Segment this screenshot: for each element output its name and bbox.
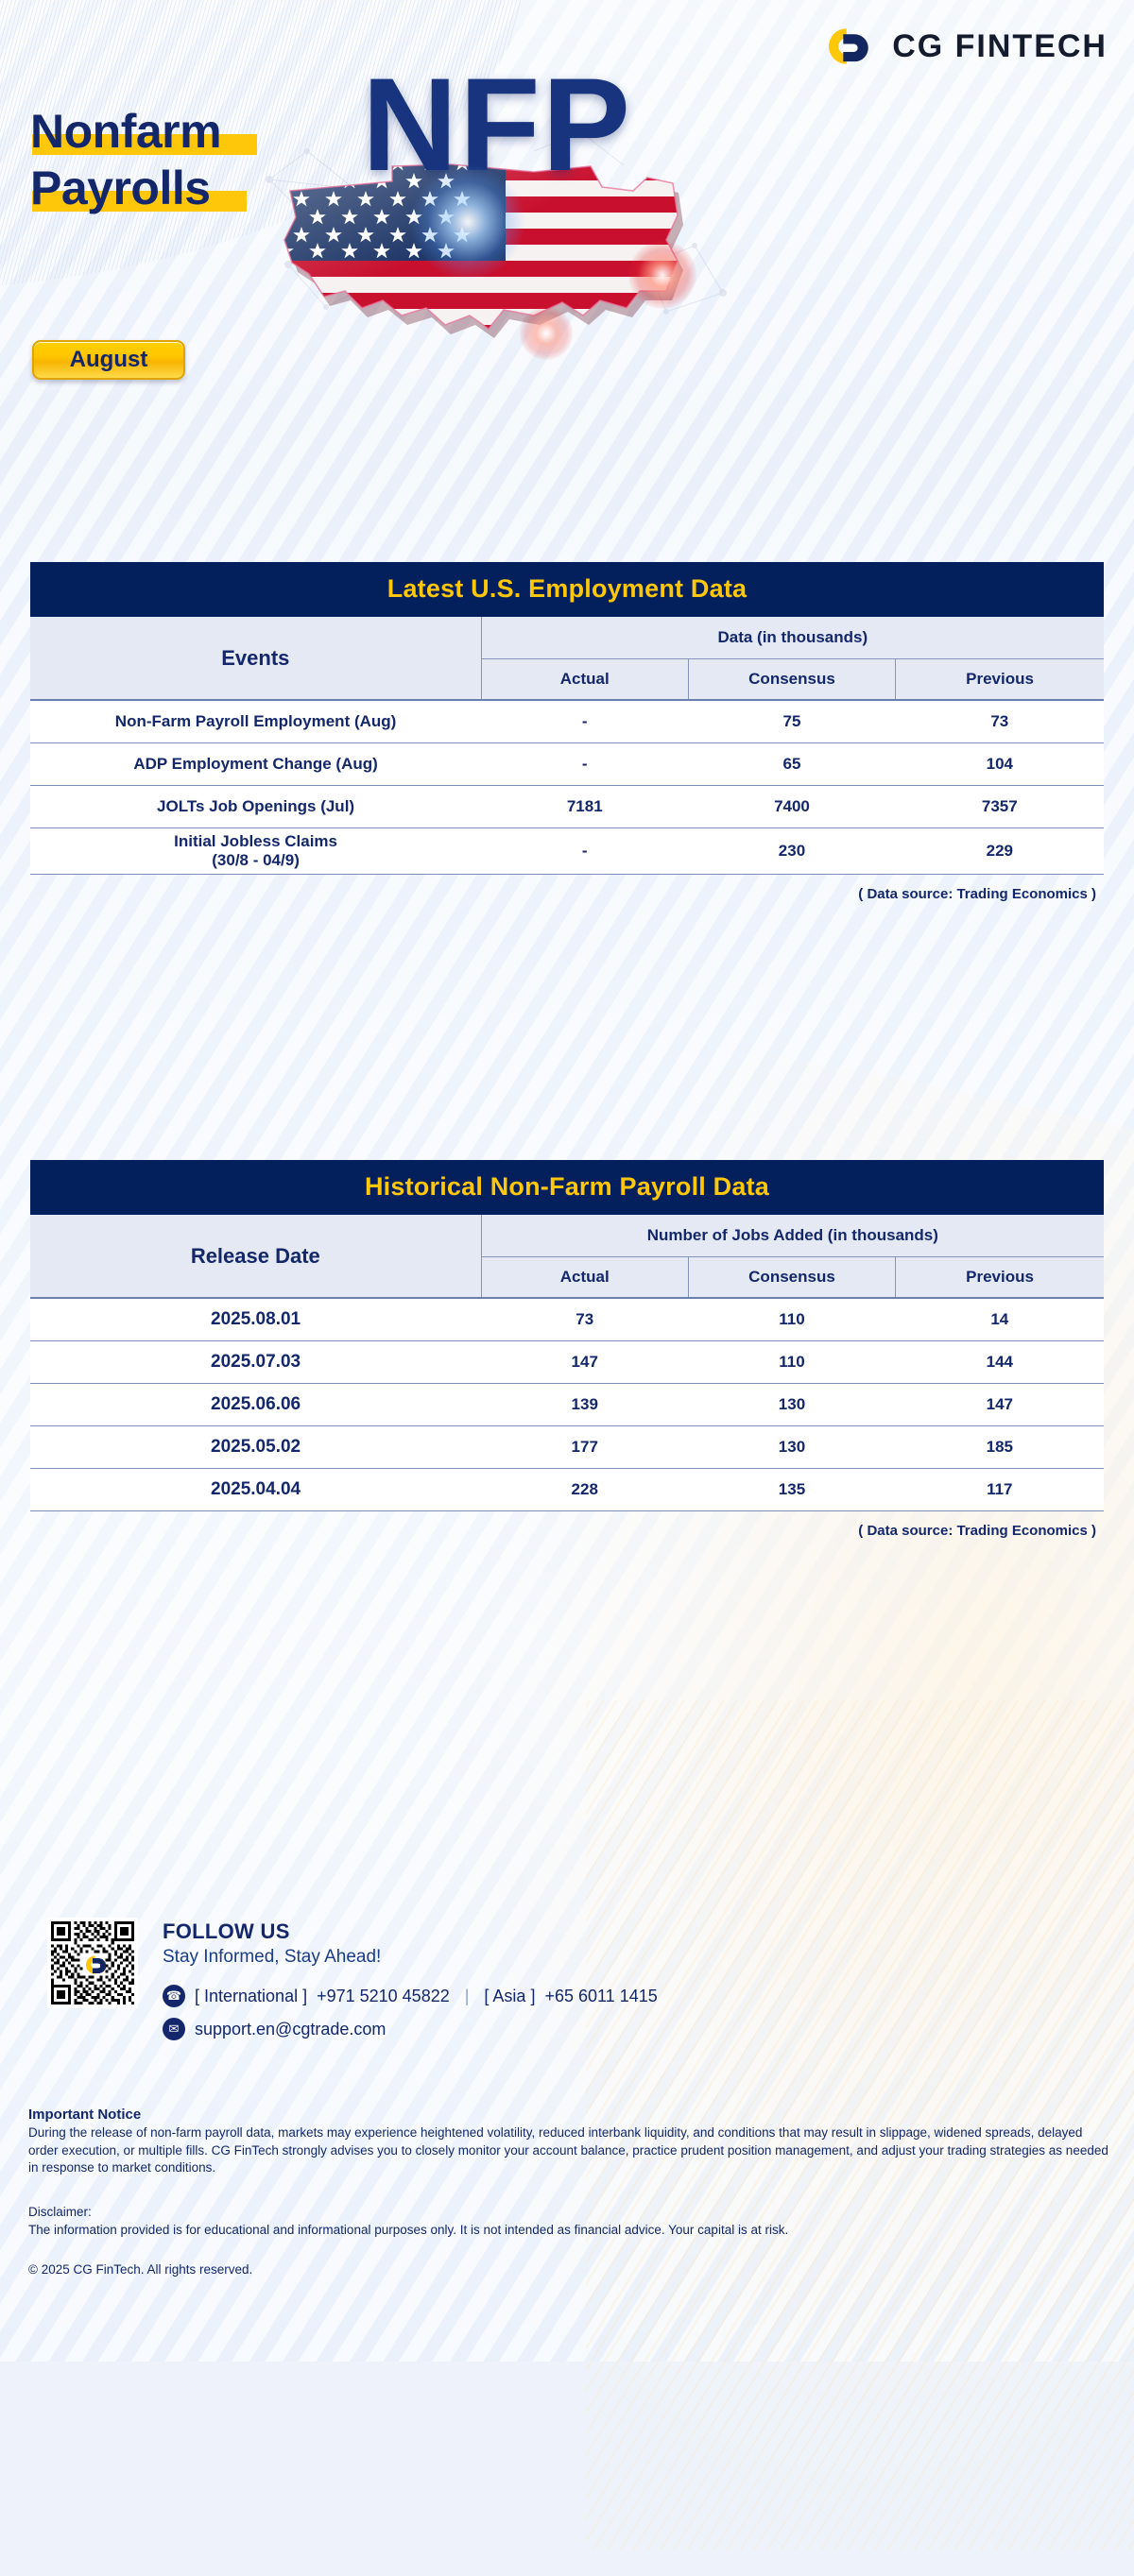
th-previous: Previous: [896, 1256, 1104, 1298]
phone-icon: ☎: [163, 1985, 185, 2007]
email-address: support.en@cgtrade.com: [195, 2020, 386, 2039]
cell-consensus: 230: [688, 827, 895, 874]
phone-asia-number: +65 6011 1415: [544, 1987, 657, 2006]
historical-payroll-table: Release Date Number of Jobs Added (in th…: [30, 1215, 1104, 1511]
cell-date: 2025.07.03: [30, 1340, 481, 1383]
cell-actual: 73: [481, 1298, 688, 1340]
latest-employment-table: Events Data (in thousands) Actual Consen…: [30, 617, 1104, 875]
table2-source-note: ( Data source: Trading Economics ): [30, 1511, 1104, 1539]
cell-consensus: 135: [688, 1468, 895, 1510]
latest-employment-card: Latest U.S. Employment Data Events Data …: [30, 562, 1104, 902]
month-badge-label: August: [70, 347, 148, 373]
phone-intl-number: +971 5210 45822: [317, 1987, 450, 2006]
lens-flare-blue-icon: [411, 165, 524, 279]
table1-source-note: ( Data source: Trading Economics ): [30, 875, 1104, 902]
cell-actual: 7181: [481, 785, 688, 827]
cell-consensus: 75: [688, 700, 895, 742]
hero-graphic: NFP: [250, 66, 742, 350]
table-row: JOLTs Job Openings (Jul) 7181 7400 7357: [30, 785, 1104, 827]
cell-previous: 144: [896, 1340, 1104, 1383]
table-row: 2025.08.01 73 110 14: [30, 1298, 1104, 1340]
important-notice-body: During the release of non-farm payroll d…: [28, 2124, 1115, 2177]
email-contact-row[interactable]: ✉ support.en@cgtrade.com: [163, 2018, 658, 2040]
phone-separator: |: [465, 1987, 470, 2006]
cell-consensus: 110: [688, 1298, 895, 1340]
cell-event-line2: (30/8 - 04/9): [30, 851, 481, 870]
th-actual: Actual: [481, 1256, 688, 1298]
cell-event: ADP Employment Change (Aug): [30, 742, 481, 785]
follow-us-subtitle: Stay Informed, Stay Ahead!: [163, 1947, 658, 1968]
brand-logo: CG FINTECH: [822, 25, 1108, 68]
cell-date: 2025.06.06: [30, 1383, 481, 1425]
table-row: ADP Employment Change (Aug) - 65 104: [30, 742, 1104, 785]
title-text-2: Payrolls: [30, 162, 211, 214]
th-jobs-group: Number of Jobs Added (in thousands): [481, 1215, 1104, 1256]
th-actual: Actual: [481, 658, 688, 700]
table-row: 2025.06.06 139 130 147: [30, 1383, 1104, 1425]
table-row: 2025.07.03 147 110 144: [30, 1340, 1104, 1383]
cell-previous: 185: [896, 1425, 1104, 1468]
cell-previous: 14: [896, 1298, 1104, 1340]
cell-consensus: 65: [688, 742, 895, 785]
cg-fintech-logo-icon: [822, 25, 879, 68]
cell-actual: 139: [481, 1383, 688, 1425]
cell-actual: -: [481, 827, 688, 874]
th-consensus: Consensus: [688, 658, 895, 700]
cell-previous: 73: [896, 700, 1104, 742]
table-row: 2025.05.02 177 130 185: [30, 1425, 1104, 1468]
cell-actual: 147: [481, 1340, 688, 1383]
cell-event: JOLTs Job Openings (Jul): [30, 785, 481, 827]
cell-previous: 117: [896, 1468, 1104, 1510]
cell-consensus: 110: [688, 1340, 895, 1383]
cell-consensus: 130: [688, 1383, 895, 1425]
lens-flare-red2-icon: [520, 307, 573, 360]
latest-employment-title: Latest U.S. Employment Data: [30, 562, 1104, 617]
cell-date: 2025.05.02: [30, 1425, 481, 1468]
historical-payroll-card: Historical Non-Farm Payroll Data Release…: [30, 1160, 1104, 1539]
th-data-group: Data (in thousands): [481, 617, 1104, 658]
title-text-1: Nonfarm: [30, 105, 221, 158]
follow-us-heading: FOLLOW US: [163, 1919, 658, 1944]
lens-flare-red-icon: [628, 241, 696, 309]
cell-event: Initial Jobless Claims (30/8 - 04/9): [30, 827, 481, 874]
cell-consensus: 130: [688, 1425, 895, 1468]
cell-previous: 229: [896, 827, 1104, 874]
follow-us-section: FOLLOW US Stay Informed, Stay Ahead! ☎ […: [47, 1918, 658, 2040]
legal-section: Important Notice During the release of n…: [28, 2107, 1115, 2279]
cell-previous: 7357: [896, 785, 1104, 827]
historical-payroll-title: Historical Non-Farm Payroll Data: [30, 1160, 1104, 1215]
disclaimer-heading: Disclaimer:: [28, 2204, 1115, 2222]
cell-event-line1: Initial Jobless Claims: [30, 832, 481, 851]
phone-asia-label: [ Asia ]: [484, 1987, 535, 2006]
brand-name: CG FINTECH: [892, 28, 1108, 65]
cell-consensus: 7400: [688, 785, 895, 827]
disclaimer-block: Disclaimer: The information provided is …: [28, 2204, 1115, 2239]
table-row: 2025.04.04 228 135 117: [30, 1468, 1104, 1510]
cell-date: 2025.04.04: [30, 1468, 481, 1510]
cell-actual: -: [481, 742, 688, 785]
follow-us-text-column: FOLLOW US Stay Informed, Stay Ahead! ☎ […: [163, 1918, 658, 2040]
th-release-date: Release Date: [30, 1215, 481, 1298]
phone-intl-label: [ International ]: [195, 1987, 307, 2006]
title-line-2: Payrolls: [30, 161, 211, 215]
important-notice-heading: Important Notice: [28, 2107, 1115, 2123]
envelope-icon: ✉: [163, 2018, 185, 2040]
th-consensus: Consensus: [688, 1256, 895, 1298]
disclaimer-body: The information provided is for educatio…: [28, 2222, 1115, 2240]
table-row: Non-Farm Payroll Employment (Aug) - 75 7…: [30, 700, 1104, 742]
cell-actual: 177: [481, 1425, 688, 1468]
table-row: Initial Jobless Claims (30/8 - 04/9) - 2…: [30, 827, 1104, 874]
qr-code-icon[interactable]: [47, 1918, 138, 2008]
cell-actual: 228: [481, 1468, 688, 1510]
cell-actual: -: [481, 700, 688, 742]
cell-date: 2025.08.01: [30, 1298, 481, 1340]
th-events: Events: [30, 617, 481, 700]
cell-previous: 147: [896, 1383, 1104, 1425]
copyright-text: © 2025 CG FinTech. All rights reserved.: [28, 2261, 1115, 2279]
th-previous: Previous: [896, 658, 1104, 700]
cell-event: Non-Farm Payroll Employment (Aug): [30, 700, 481, 742]
nfp-acronym: NFP: [362, 59, 632, 191]
cell-previous: 104: [896, 742, 1104, 785]
phone-contact-row[interactable]: ☎ [ International ] +971 5210 45822 | [ …: [163, 1985, 658, 2007]
month-badge: August: [32, 340, 185, 380]
title-line-1: Nonfarm: [30, 104, 221, 159]
